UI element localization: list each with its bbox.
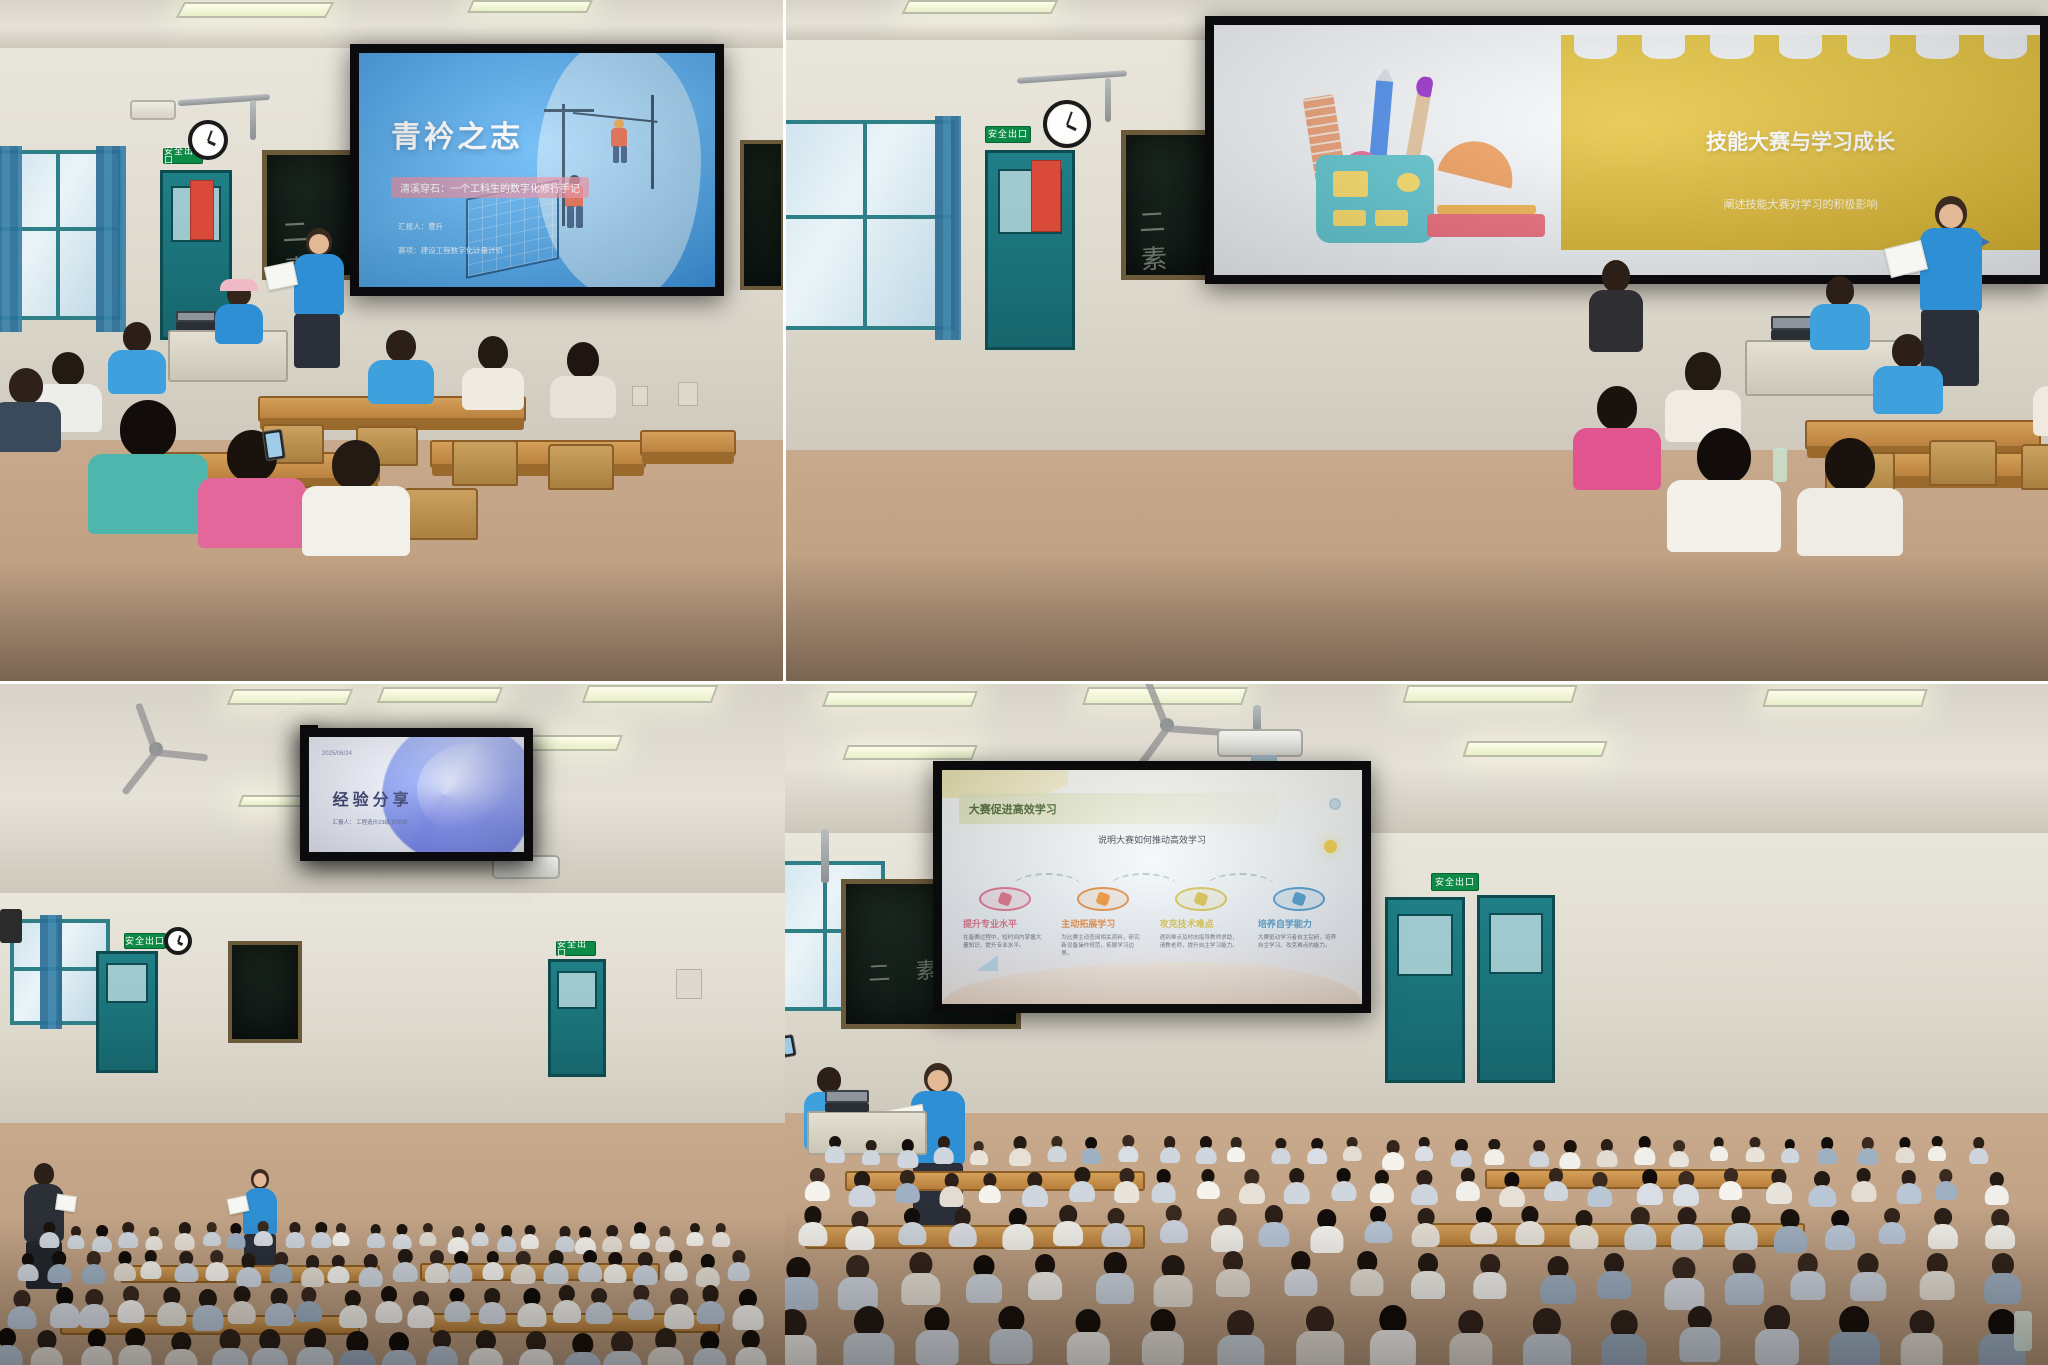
audience-person — [1485, 1139, 1504, 1164]
curtain — [96, 146, 126, 332]
foreground-shadow — [0, 1215, 785, 1365]
slide4-column-2: 主动拓展学习为比赛主动查阅相关资料，研究新设备操作规范，拓展学习边界。 — [1061, 887, 1144, 958]
chair-back — [2021, 444, 2048, 490]
slide4-column-body: 大赛驱动学习者自主钻研，培养自主学习、攻克难点的能力。 — [1258, 934, 1341, 950]
ceiling-light — [227, 689, 353, 705]
audience-person-foreground — [300, 440, 412, 550]
backpack-icon — [1316, 155, 1434, 243]
ceiling-light — [1402, 685, 1577, 703]
audience-person — [1081, 1137, 1101, 1163]
photo-collage: 安全出口 二 素 — [0, 0, 2048, 1365]
ceiling-light — [1082, 687, 1248, 705]
audience-person — [460, 336, 526, 406]
audience-person — [1896, 1170, 1921, 1202]
slide1-presenter: 汇报人：曹升 — [398, 221, 443, 232]
card-icon — [1095, 891, 1110, 906]
projector-mount — [1253, 705, 1261, 731]
books-icon — [1427, 214, 1545, 237]
ceiling-light — [1762, 689, 1927, 707]
door[interactable] — [985, 150, 1075, 350]
notice-board — [190, 180, 214, 240]
audience-person — [2031, 350, 2048, 434]
slide4-subtitle: 说明大赛如何推动高效学习 — [942, 833, 1362, 846]
chair-back — [452, 440, 518, 486]
chair-back — [404, 488, 478, 540]
audience-person — [366, 330, 436, 400]
star-icon — [997, 891, 1012, 906]
laptop-screen — [176, 311, 216, 322]
slide3-title: 经验分享 — [333, 786, 413, 810]
slide-4: 大赛促进高效学习 说明大赛如何推动高效学习 提升专业水平在备赛过程中，短时间内掌… — [942, 770, 1362, 1004]
exit-sign-left: 安全出口 — [124, 933, 166, 949]
ceiling-light — [902, 0, 1059, 14]
door-window — [1489, 913, 1544, 975]
classroom-scene-1: 安全出口 二 素 — [0, 0, 785, 683]
slide4-columns: 提升专业水平在备赛过程中，短时间内掌握大量知识，提升专业水平。主动拓展学习为比赛… — [963, 887, 1341, 958]
audience-person — [825, 1136, 845, 1162]
pen-icon — [1292, 891, 1307, 906]
audience-person — [895, 1170, 919, 1201]
chair-back — [1929, 440, 1997, 486]
audience-person — [1369, 1170, 1393, 1201]
wall-switch — [678, 382, 698, 406]
audience-person — [1069, 1167, 1095, 1201]
audience-person — [1411, 1170, 1437, 1204]
slide4-chip — [1258, 887, 1341, 911]
audience-person — [1119, 1135, 1138, 1160]
audience-person — [1674, 1171, 1700, 1205]
slide4-chip — [1160, 887, 1243, 911]
projector-mount — [1105, 78, 1111, 122]
ceiling-light — [176, 2, 335, 18]
slide4-column-body: 为比赛主动查阅相关资料，研究新设备操作规范，拓展学习边界。 — [1061, 934, 1144, 958]
presenter-person — [288, 228, 350, 368]
audience-person — [1710, 1137, 1728, 1160]
slide-canvas-1: 青衿之志 清溪穿石：一个工科生的数字化修行手记 汇报人：曹升 赛项：建设工程数字… — [359, 53, 715, 287]
audience-person — [1197, 1169, 1219, 1198]
audience-person — [939, 1173, 964, 1205]
door-window — [1397, 914, 1453, 975]
audience-person — [1271, 1138, 1290, 1163]
audience-person — [548, 342, 618, 414]
audience-person — [934, 1136, 955, 1163]
audience-person — [1160, 1136, 1180, 1162]
slide4-column-heading: 培养自学能力 — [1258, 917, 1341, 930]
ac-unit — [130, 100, 176, 120]
audience-person — [1571, 386, 1663, 490]
slide3-highlight — [417, 744, 520, 836]
audience-person — [1587, 1172, 1612, 1205]
exit-sign: 安全出口 — [985, 126, 1031, 143]
ceiling-light — [467, 0, 593, 13]
worker-figure-climbing — [608, 119, 634, 165]
classroom-scene-3: 安全出口 — [0, 683, 785, 1365]
audience-person — [1985, 1172, 2009, 1204]
slide4-sand-decoration — [942, 962, 1362, 1004]
audience-person — [1451, 1139, 1472, 1166]
slide2-scalloped-edge — [1561, 35, 2040, 59]
slide4-column-1: 提升专业水平在备赛过程中，短时间内掌握大量知识，提升专业水平。 — [963, 887, 1046, 958]
audience-person — [1283, 1168, 1310, 1202]
wall-switch — [676, 969, 702, 999]
audience-person — [1530, 1140, 1550, 1166]
panel-bottom-left: 安全出口 — [0, 683, 785, 1365]
foreground-shadow — [785, 553, 2048, 683]
audience-person-foreground — [196, 430, 308, 542]
audience-person — [1634, 1136, 1655, 1164]
classroom-scene-4: 二 素 安全出口 大赛促进高效学习 — [785, 683, 2048, 1365]
slide3-date: 2025/06/24 — [322, 751, 352, 757]
wall-speaker — [0, 909, 22, 943]
collage-seam-vertical — [783, 0, 786, 683]
door-window — [106, 963, 149, 1002]
slide4-chip — [1061, 887, 1144, 911]
wall-mount — [821, 829, 829, 883]
slide4-icon-ellipse — [979, 887, 1031, 911]
audience-person-foreground — [1665, 428, 1783, 546]
slide-1: 青衿之志 清溪穿石：一个工科生的数字化修行手记 汇报人：曹升 赛项：建设工程数字… — [359, 53, 715, 287]
curtain — [935, 116, 961, 340]
ceiling-light — [822, 691, 978, 707]
audience-person — [1560, 1140, 1581, 1167]
audience-person — [1415, 1137, 1433, 1160]
door-second[interactable] — [1477, 895, 1555, 1083]
wall-socket — [632, 386, 648, 406]
foreground-shadow — [0, 563, 785, 683]
slide4-boat-icon — [976, 955, 998, 971]
blackboard-right — [740, 140, 785, 290]
door[interactable] — [1385, 897, 1465, 1083]
audience-person — [1817, 1137, 1837, 1163]
projection-screen-1: 青衿之志 清溪穿石：一个工科生的数字化修行手记 汇报人：曹升 赛项：建设工程数字… — [350, 44, 724, 296]
audience-person — [1499, 1172, 1525, 1206]
slide-canvas-4: 大赛促进高效学习 说明大赛如何推动高效学习 提升专业水平在备赛过程中，短时间内掌… — [942, 770, 1362, 1004]
audience-person-foreground — [1795, 438, 1905, 550]
slide1-subtitle: 清溪穿石：一个工科生的数字化修行手记 — [391, 177, 589, 198]
audience-person — [970, 1141, 988, 1164]
audience-person-foreground — [86, 400, 210, 530]
bell-icon — [1193, 891, 1208, 906]
seated-student — [212, 282, 266, 344]
slide4-column-heading: 主动拓展学习 — [1061, 917, 1144, 930]
laptop — [176, 322, 216, 330]
slide1-title: 青衿之志 — [391, 112, 523, 156]
slide4-column-3: 攻克技术难点遇到难点及时向指导教师求助，请教老师，提升自主学习能力。 — [1160, 887, 1243, 958]
audience-person — [897, 1139, 918, 1166]
slide4-icon-ellipse — [1175, 887, 1227, 911]
exit-sign: 安全出口 — [1431, 873, 1479, 891]
blackboard — [228, 941, 302, 1043]
ceiling — [0, 0, 785, 48]
school-supplies-illustration — [1247, 50, 1594, 260]
audience-person — [1719, 1168, 1743, 1199]
slide4-column-4: 培养自学能力大赛驱动学习者自主钻研，培养自主学习、攻克难点的能力。 — [1258, 887, 1341, 958]
audience-person — [1196, 1136, 1217, 1163]
door-left[interactable] — [96, 951, 158, 1073]
audience-person — [1455, 1168, 1479, 1199]
wall-clock — [1043, 100, 1091, 148]
curtain — [0, 146, 22, 332]
audience-person — [1307, 1138, 1327, 1163]
presenter-trousers — [294, 314, 340, 368]
audience-person — [1871, 334, 1945, 412]
audience-person — [1766, 1169, 1792, 1202]
audience-person — [1663, 352, 1743, 440]
slide4-corner-dot-icon — [1329, 798, 1341, 810]
slide4-icon-ellipse — [1077, 887, 1129, 911]
wall-clock — [188, 120, 228, 160]
pink-cap — [220, 279, 258, 291]
audience-person — [1928, 1136, 1946, 1159]
audience-person — [1895, 1137, 1914, 1161]
panel-top-left: 安全出口 二 素 — [0, 0, 785, 683]
blackboard-chalk-text: 二 素 — [1138, 199, 1208, 276]
audience-person — [1809, 1171, 1836, 1206]
audience-person — [1048, 1136, 1067, 1161]
audience-person — [1227, 1137, 1245, 1160]
slide4-icon-ellipse — [1273, 887, 1325, 911]
exit-sign-right: 安全出口 — [556, 941, 596, 956]
water-bottle — [1773, 448, 1787, 482]
ceiling-light — [377, 687, 503, 703]
audience-person — [1343, 1137, 1361, 1161]
projection-screen-4: 大赛促进高效学习 说明大赛如何推动高效学习 提升专业水平在备赛过程中，短时间内掌… — [933, 761, 1371, 1013]
slide4-column-body: 在备赛过程中，短时间内掌握大量知识，提升专业水平。 — [963, 934, 1046, 950]
slide4-column-heading: 提升专业水平 — [963, 917, 1046, 930]
slide2-title: 技能大赛与学习成长 — [1590, 130, 2012, 156]
ceiling-light — [582, 685, 719, 703]
audience-person — [1114, 1168, 1140, 1201]
audience-person — [1781, 1139, 1799, 1162]
audience-person — [1151, 1169, 1176, 1201]
slide4-column-body: 遇到难点及时向指导教师求助，请教老师，提升自主学习能力。 — [1160, 934, 1243, 950]
curtain — [40, 915, 62, 1029]
slide-3: 2025/06/24 经验分享 汇报人： 工程造价23级 井凯凯 — [309, 737, 524, 852]
projector-mount — [250, 100, 256, 140]
collage-seam-horizontal — [0, 681, 2048, 684]
slide1-topic: 赛项：建设工程数字化计量计价 — [398, 245, 503, 256]
blackboard: 二 素 — [1121, 130, 1211, 280]
laptop — [825, 1103, 869, 1112]
projection-screen-3: 2025/06/24 经验分享 汇报人： 工程造价23级 井凯凯 — [300, 728, 533, 861]
audience-person — [1544, 1168, 1568, 1199]
utility-pole — [651, 95, 654, 189]
standing-student — [1585, 260, 1647, 352]
audience-person — [1851, 1168, 1876, 1200]
door-right[interactable] — [548, 959, 606, 1077]
window — [785, 120, 955, 330]
student-desk — [640, 430, 736, 456]
notice-board — [1031, 160, 1061, 232]
phone-recording[interactable] — [262, 429, 286, 461]
slide4-chip — [963, 887, 1046, 911]
audience-person — [849, 1171, 876, 1206]
ceiling-light — [842, 745, 977, 760]
audience-person — [1597, 1139, 1618, 1166]
audience-person — [1239, 1169, 1265, 1203]
projector — [1217, 729, 1303, 757]
ceiling-light — [1462, 741, 1607, 757]
audience-person — [862, 1140, 880, 1163]
seated-student — [1807, 276, 1873, 348]
pole-crossbar — [544, 109, 594, 112]
audience-person — [1969, 1137, 1989, 1162]
audience-person — [106, 322, 168, 392]
audience-person — [1382, 1140, 1404, 1168]
protractor-icon — [1438, 134, 1521, 189]
slide4-header-text: 大赛促进高效学习 — [969, 801, 1057, 817]
audience-person — [1009, 1136, 1031, 1164]
audience-person — [1935, 1169, 1958, 1198]
door-window — [557, 971, 597, 1009]
panel-top-right: 安全出口 二 素 技能大赛与学习成长 阐述技能大赛 — [785, 0, 2048, 683]
slide-canvas-3: 2025/06/24 经验分享 汇报人： 工程造价23级 井凯凯 — [309, 737, 524, 852]
audience-person — [1669, 1140, 1689, 1166]
audience-person — [979, 1173, 1001, 1202]
audience-person — [1022, 1172, 1048, 1206]
classroom-scene-2: 安全出口 二 素 技能大赛与学习成长 阐述技能大赛 — [785, 0, 2048, 683]
audience-person — [0, 368, 62, 450]
audience-person — [1331, 1168, 1356, 1200]
audience-person — [1746, 1137, 1765, 1161]
slide4-column-heading: 攻克技术难点 — [1160, 917, 1243, 930]
chair-back — [548, 444, 614, 490]
audience-person — [805, 1168, 829, 1199]
slide3-presenter: 汇报人： 工程造价23级 井凯凯 — [333, 818, 408, 826]
wall-clock — [164, 927, 192, 955]
audience-person — [1636, 1169, 1662, 1203]
laptop-screen — [825, 1090, 869, 1103]
foreground-shadow — [785, 1205, 2048, 1365]
slide4-header-bar: 大赛促进高效学习 — [959, 793, 1278, 823]
audience-person — [1857, 1137, 1878, 1164]
panel-bottom-right: 二 素 安全出口 大赛促进高效学习 — [785, 683, 2048, 1365]
